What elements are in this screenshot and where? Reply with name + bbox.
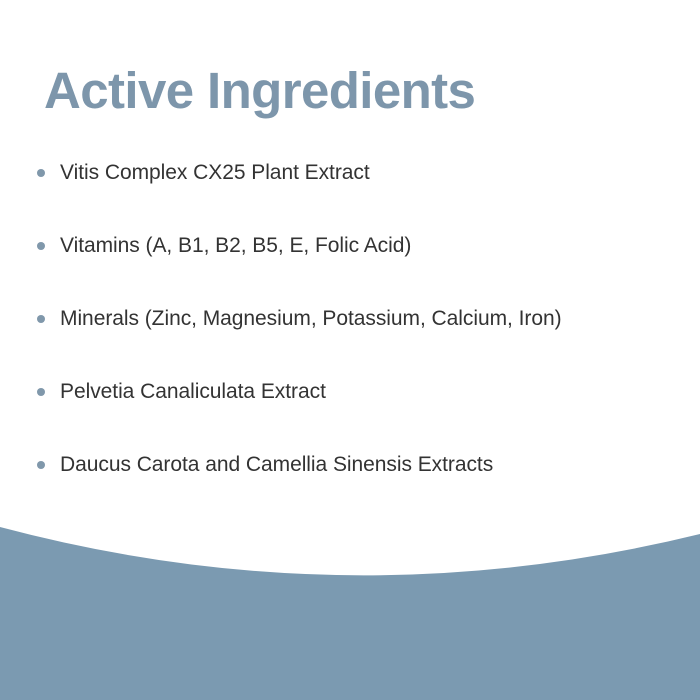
- list-item: Vitamins (A, B1, B2, B5, E, Folic Acid): [33, 209, 673, 282]
- slide-canvas: Active Ingredients Vitis Complex CX25 Pl…: [0, 0, 700, 700]
- decorative-wave-shape: [0, 515, 700, 700]
- bullet-dot-icon: [37, 169, 45, 177]
- list-item: Pelvetia Canaliculata Extract: [33, 355, 673, 428]
- list-item-label: Daucus Carota and Camellia Sinensis Extr…: [60, 451, 493, 478]
- bullet-dot-icon: [37, 388, 45, 396]
- list-item-label: Pelvetia Canaliculata Extract: [60, 378, 326, 405]
- page-title: Active Ingredients: [44, 62, 475, 119]
- list-item: Daucus Carota and Camellia Sinensis Extr…: [33, 428, 673, 501]
- ingredient-list: Vitis Complex CX25 Plant Extract Vitamin…: [33, 136, 673, 501]
- list-item-label: Minerals (Zinc, Magnesium, Potassium, Ca…: [60, 305, 562, 332]
- list-item-label: Vitis Complex CX25 Plant Extract: [60, 159, 370, 186]
- bullet-dot-icon: [37, 461, 45, 469]
- list-item-label: Vitamins (A, B1, B2, B5, E, Folic Acid): [60, 232, 411, 259]
- list-item: Vitis Complex CX25 Plant Extract: [33, 136, 673, 209]
- bullet-dot-icon: [37, 242, 45, 250]
- bullet-dot-icon: [37, 315, 45, 323]
- list-item: Minerals (Zinc, Magnesium, Potassium, Ca…: [33, 282, 673, 355]
